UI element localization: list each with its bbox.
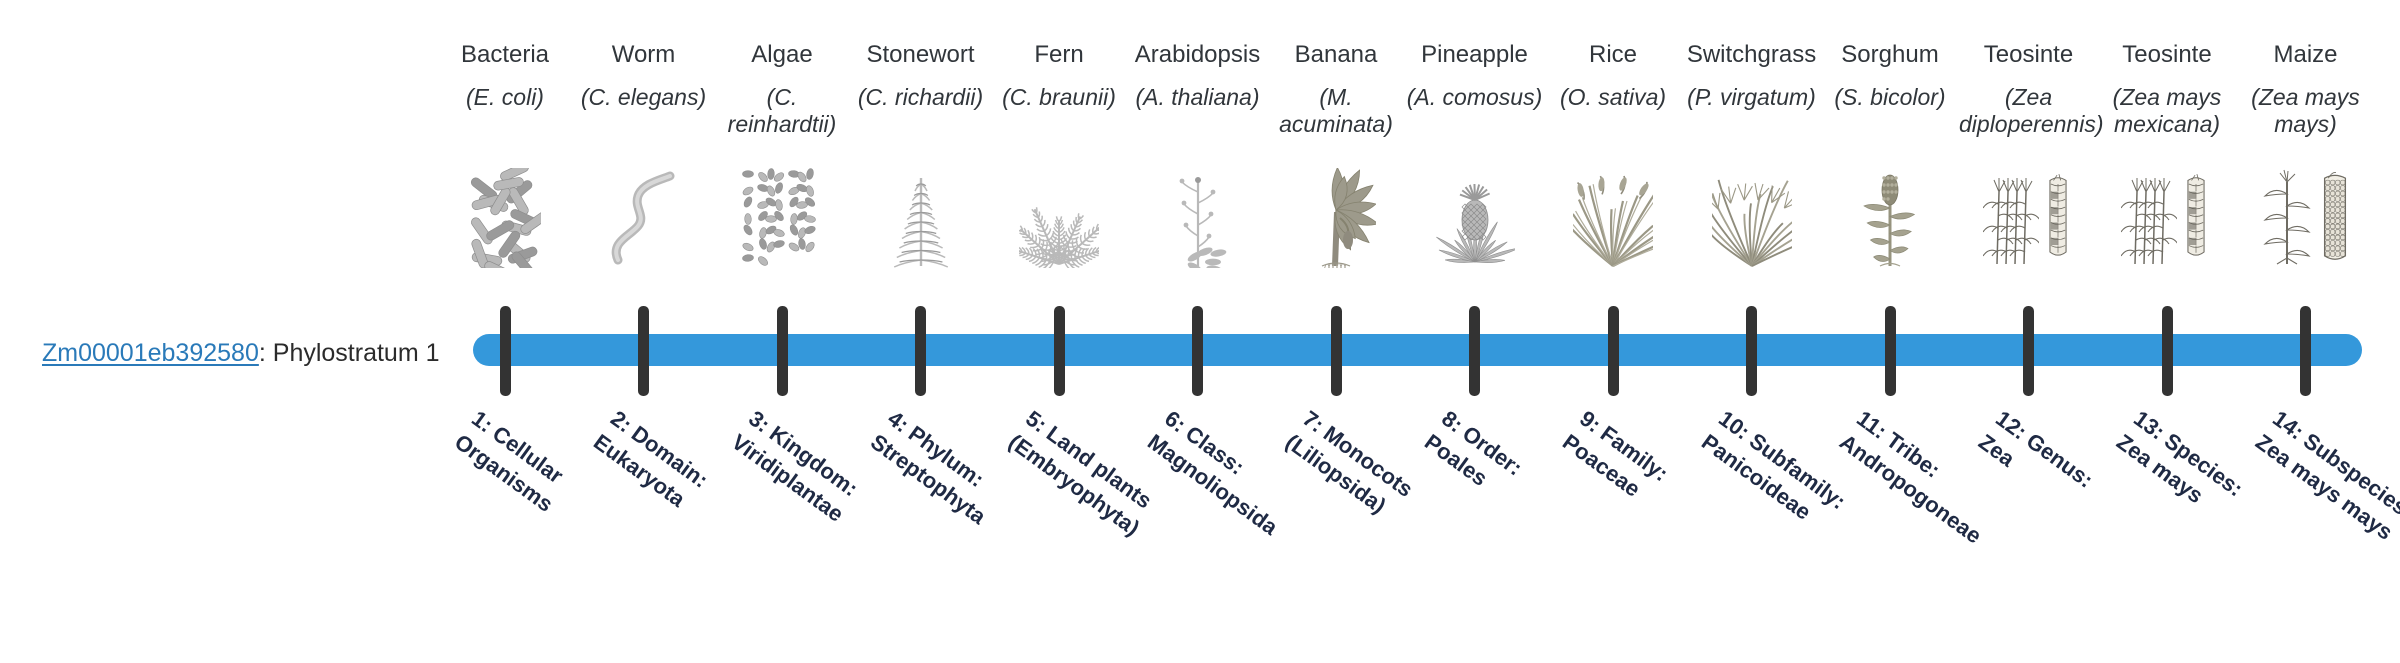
gene-accession-link[interactable]: Zm00001eb392580: [42, 339, 259, 367]
organism-illustration: [1405, 168, 1544, 268]
organism-common-name: Sorghum: [1821, 40, 1960, 70]
organism-illustration: [1959, 168, 2098, 268]
organism-common-name: Algae: [713, 40, 852, 70]
timeline-tick[interactable]: [1608, 306, 1619, 396]
organism-column: Teosinte(Zea diploperennis): [1959, 40, 2098, 138]
organism-common-name: Rice: [1544, 40, 1683, 70]
timeline-tick[interactable]: [500, 306, 511, 396]
organism-illustration: [1267, 168, 1406, 268]
organism-scientific-name: (A. comosus): [1405, 84, 1544, 111]
organism-illustration: [2236, 168, 2375, 268]
gene-label-separator: :: [259, 339, 273, 367]
organism-scientific-name: (Zea mays mexicana): [2098, 84, 2237, 138]
teosinte-ear-icon: [2041, 168, 2075, 268]
timeline-tick[interactable]: [1331, 306, 1342, 396]
organism-column: Banana(M. acuminata): [1267, 40, 1406, 138]
nematode-worm-icon: [604, 168, 684, 268]
organism-common-name: Stonewort: [851, 40, 990, 70]
organism-common-name: Fern: [990, 40, 1129, 70]
timeline-tick[interactable]: [2300, 306, 2311, 396]
organism-illustration: [436, 168, 575, 268]
organism-illustration: [1544, 168, 1683, 268]
organism-scientific-name: (Zea diploperennis): [1959, 84, 2098, 138]
organism-column: Switchgrass(P. virgatum): [1682, 40, 1821, 111]
timeline-tick[interactable]: [1885, 306, 1896, 396]
organism-common-name: Bacteria: [436, 40, 575, 70]
organism-scientific-name: (M. acuminata): [1267, 84, 1406, 138]
maize-plant-icon: [2259, 168, 2315, 268]
organism-common-name: Worm: [574, 40, 713, 70]
arabidopsis-plant-icon: [1158, 168, 1238, 268]
maize-cob-icon: [2317, 168, 2353, 268]
pineapple-plant-icon: [1435, 168, 1515, 268]
timeline-tick[interactable]: [1746, 306, 1757, 396]
switchgrass-plant-icon: [1712, 168, 1792, 268]
organism-scientific-name: (E. coli): [436, 84, 575, 111]
stratum-text: Family: Poaceae: [1558, 421, 1673, 502]
organism-scientific-name: (S. bicolor): [1821, 84, 1960, 111]
timeline-tick[interactable]: [638, 306, 649, 396]
timeline-tick[interactable]: [915, 306, 926, 396]
organism-column: Stonewort(C. richardii): [851, 40, 990, 111]
timeline-tick[interactable]: [777, 306, 788, 396]
organism-column: Fern(C. braunii): [990, 40, 1129, 111]
organism-common-name: Teosinte: [2098, 40, 2237, 70]
organism-scientific-name: (Zea mays mays): [2236, 84, 2375, 138]
organism-scientific-name: (C. elegans): [574, 84, 713, 111]
organism-illustration: [1128, 168, 1267, 268]
organism-illustration: [1821, 168, 1960, 268]
organism-scientific-name: (C. richardii): [851, 84, 990, 111]
organism-illustration: [713, 168, 852, 268]
phylostratum-timeline-figure: Zm00001eb392580: Phylostratum 1 Bacteria…: [0, 0, 2400, 580]
teosinte-ear-icon: [2179, 168, 2213, 268]
algae-cells-icon: [742, 168, 822, 268]
organism-column: Pineapple(A. comosus): [1405, 40, 1544, 111]
stratum-text: Genus: Zea: [1974, 428, 2098, 493]
organism-common-name: Banana: [1267, 40, 1406, 70]
organism-scientific-name: (A. thaliana): [1128, 84, 1267, 111]
fern-frond-icon: [1019, 168, 1099, 268]
timeline-tick[interactable]: [1469, 306, 1480, 396]
stratum-text: Cellular Organisms: [450, 421, 568, 517]
stonewort-plant-icon: [881, 168, 961, 268]
organism-column: Arabidopsis(A. thaliana): [1128, 40, 1267, 111]
organism-illustration: [2098, 168, 2237, 268]
organism-column: Rice(O. sativa): [1544, 40, 1683, 111]
organism-illustration: [574, 168, 713, 268]
organism-common-name: Pineapple: [1405, 40, 1544, 70]
phylostratum-timeline-bar: [473, 334, 2362, 366]
organism-common-name: Teosinte: [1959, 40, 2098, 70]
timeline-tick[interactable]: [2162, 306, 2173, 396]
banana-tree-icon: [1296, 168, 1376, 268]
sorghum-plant-icon: [1850, 168, 1930, 268]
timeline-tick[interactable]: [2023, 306, 2034, 396]
organism-column: Worm(C. elegans): [574, 40, 713, 111]
timeline-tick[interactable]: [1192, 306, 1203, 396]
organism-scientific-name: (P. virgatum): [1682, 84, 1821, 111]
organism-column: Sorghum(S. bicolor): [1821, 40, 1960, 111]
teosinte-plant-icon: [1983, 168, 2039, 268]
organism-common-name: Maize: [2236, 40, 2375, 70]
organism-column: Bacteria(E. coli): [436, 40, 575, 111]
rice-plant-icon: [1573, 168, 1653, 268]
organism-scientific-name: (C. reinhardtii): [713, 84, 852, 138]
teosinte-plant-icon: [2121, 168, 2177, 268]
organism-illustration: [990, 168, 1129, 268]
organism-column: Teosinte(Zea mays mexicana): [2098, 40, 2237, 138]
organism-illustration: [1682, 168, 1821, 268]
organism-scientific-name: (C. braunii): [990, 84, 1129, 111]
bacteria-rods-icon: [469, 168, 541, 268]
phylostratum-value: Phylostratum 1: [273, 339, 440, 367]
gene-phylostratum-label: Zm00001eb392580: Phylostratum 1: [42, 338, 440, 368]
organism-scientific-name: (O. sativa): [1544, 84, 1683, 111]
organism-column: Algae(C. reinhardtii): [713, 40, 852, 138]
organism-common-name: Arabidopsis: [1128, 40, 1267, 70]
timeline-tick[interactable]: [1054, 306, 1065, 396]
stratum-text: Order: Poales: [1420, 421, 1527, 491]
organism-column: Maize(Zea mays mays): [2236, 40, 2375, 138]
organism-illustration: [851, 168, 990, 268]
organism-common-name: Switchgrass: [1682, 40, 1821, 70]
